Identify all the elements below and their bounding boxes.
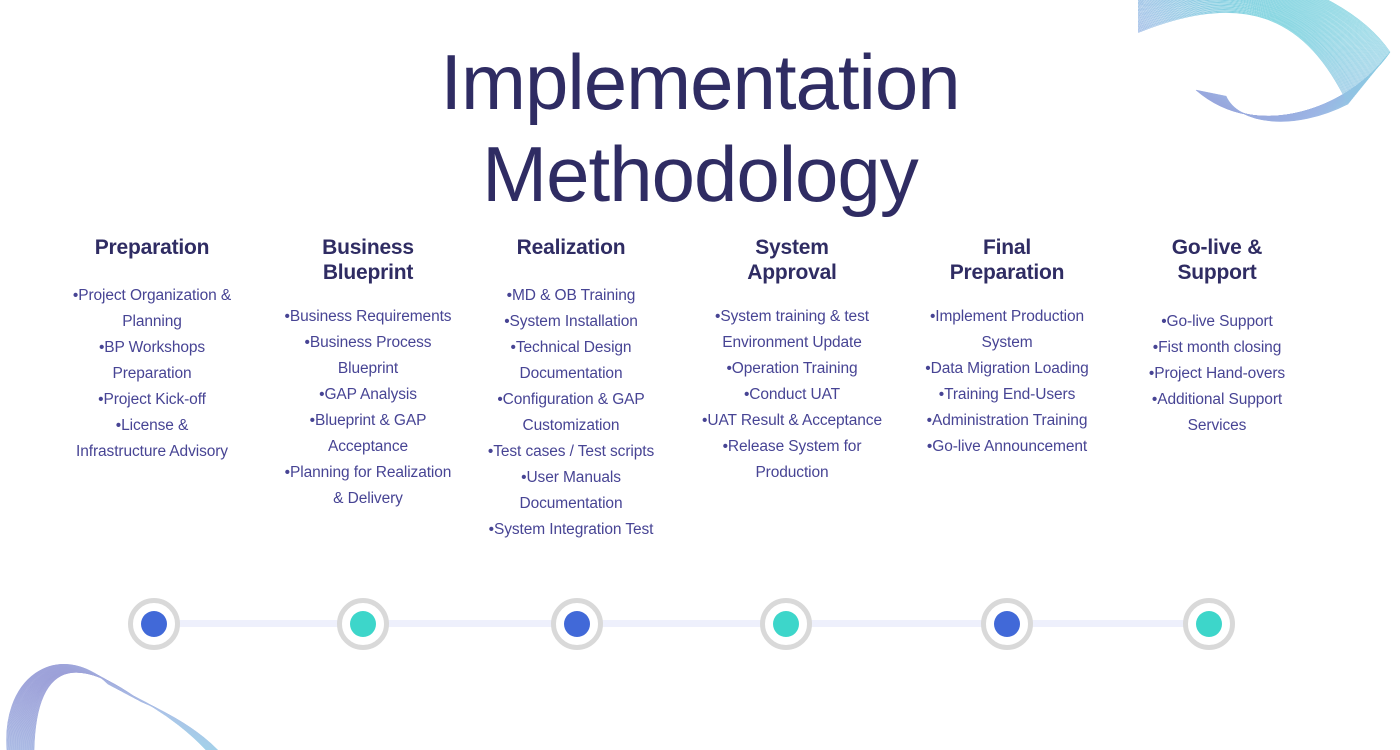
timeline-node-dot bbox=[350, 611, 376, 637]
phase-timeline bbox=[0, 598, 1400, 652]
timeline-node-go-live-support[interactable] bbox=[1183, 598, 1235, 650]
phase-item: •System Installation bbox=[468, 309, 674, 335]
phase-column-system-approval: System Approval •System training & test … bbox=[688, 236, 896, 486]
phase-item: •Technical Design Documentation bbox=[468, 335, 674, 387]
phase-item-list: •Go-live Support •Fist month closing •Pr… bbox=[1122, 309, 1312, 439]
phase-item: •Planning for Realization & Delivery bbox=[268, 460, 468, 512]
phase-columns: Preparation •Project Organization & Plan… bbox=[0, 236, 1400, 576]
timeline-node-dot bbox=[564, 611, 590, 637]
phase-item: •Conduct UAT bbox=[688, 382, 896, 408]
phase-item: •System Integration Test bbox=[468, 517, 674, 543]
phase-item: •Go-live Support bbox=[1122, 309, 1312, 335]
phase-item: •UAT Result & Acceptance bbox=[688, 408, 896, 434]
phase-item: •User Manuals Documentation bbox=[468, 465, 674, 517]
timeline-node-realization[interactable] bbox=[551, 598, 603, 650]
phase-item: •System training & test Environment Upda… bbox=[688, 304, 896, 356]
phase-item: •Additional Support Services bbox=[1122, 387, 1312, 439]
phase-item: •Business Requirements bbox=[268, 304, 468, 330]
phase-item: •Project Organization & Planning bbox=[46, 283, 258, 335]
timeline-node-dot bbox=[994, 611, 1020, 637]
phase-item: •Release System for Production bbox=[688, 434, 896, 486]
phase-column-final-preparation: Final Preparation •Implement Production … bbox=[909, 236, 1105, 460]
phase-item: •BP Workshops Preparation bbox=[46, 335, 258, 387]
wave-ribbon-bottom-left-icon bbox=[0, 636, 240, 750]
phase-item: •Go-live Announcement bbox=[909, 434, 1105, 460]
phase-item: •Configuration & GAP Customization bbox=[468, 387, 674, 439]
timeline-node-dot bbox=[141, 611, 167, 637]
phase-title: Go-live & Support bbox=[1122, 236, 1312, 285]
phase-item-list: •Implement Production System •Data Migra… bbox=[909, 304, 1105, 460]
phase-item: •License & Infrastructure Advisory bbox=[46, 413, 258, 465]
phase-item: •Fist month closing bbox=[1122, 335, 1312, 361]
phase-column-preparation: Preparation •Project Organization & Plan… bbox=[46, 236, 258, 465]
phase-column-realization: Realization •MD & OB Training •System In… bbox=[468, 236, 674, 543]
page-title-line-1: Implementation bbox=[0, 36, 1400, 128]
page-title-line-2: Methodology bbox=[0, 128, 1400, 220]
phase-item: •Operation Training bbox=[688, 356, 896, 382]
phase-item: •Administration Training bbox=[909, 408, 1105, 434]
phase-title: System Approval bbox=[688, 236, 896, 285]
phase-item: •Test cases / Test scripts bbox=[468, 439, 674, 465]
phase-item: •Project Kick-off bbox=[46, 387, 258, 413]
page-title: Implementation Methodology bbox=[0, 36, 1400, 220]
phase-title: Final Preparation bbox=[909, 236, 1105, 285]
phase-title: Realization bbox=[468, 236, 674, 261]
slide-canvas: Implementation Methodology Preparation •… bbox=[0, 0, 1400, 750]
phase-item: •MD & OB Training bbox=[468, 283, 674, 309]
phase-item-list: •System training & test Environment Upda… bbox=[688, 304, 896, 486]
phase-item: •Project Hand-overs bbox=[1122, 361, 1312, 387]
timeline-node-system-approval[interactable] bbox=[760, 598, 812, 650]
timeline-node-dot bbox=[773, 611, 799, 637]
phase-item-list: •Business Requirements •Business Process… bbox=[268, 304, 468, 512]
phase-item: •Training End-Users bbox=[909, 382, 1105, 408]
timeline-node-preparation[interactable] bbox=[128, 598, 180, 650]
phase-item: •Business Process Blueprint bbox=[268, 330, 468, 382]
timeline-node-final-preparation[interactable] bbox=[981, 598, 1033, 650]
timeline-node-business-blueprint[interactable] bbox=[337, 598, 389, 650]
phase-title: Business Blueprint bbox=[268, 236, 468, 285]
phase-item: •Data Migration Loading bbox=[909, 356, 1105, 382]
phase-item-list: •MD & OB Training •System Installation •… bbox=[468, 283, 674, 543]
phase-title: Preparation bbox=[46, 236, 258, 261]
timeline-track bbox=[154, 620, 1209, 627]
timeline-node-dot bbox=[1196, 611, 1222, 637]
phase-column-go-live-support: Go-live & Support •Go-live Support •Fist… bbox=[1122, 236, 1312, 439]
phase-column-business-blueprint: Business Blueprint •Business Requirement… bbox=[268, 236, 468, 512]
phase-item: •GAP Analysis bbox=[268, 382, 468, 408]
phase-item-list: •Project Organization & Planning •BP Wor… bbox=[46, 283, 258, 465]
phase-item: •Blueprint & GAP Acceptance bbox=[268, 408, 468, 460]
phase-item: •Implement Production System bbox=[909, 304, 1105, 356]
